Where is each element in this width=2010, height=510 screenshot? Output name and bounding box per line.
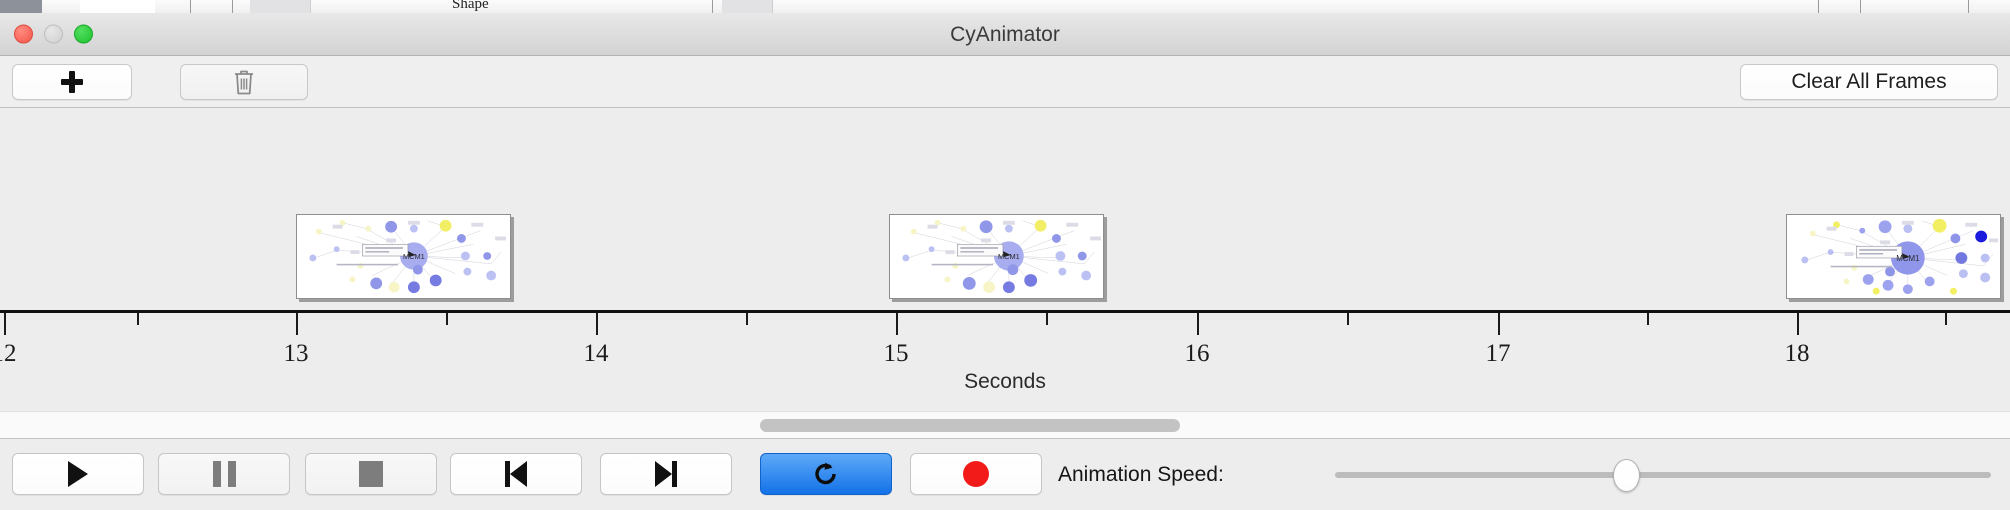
record-icon — [963, 461, 989, 487]
loop-button[interactable] — [760, 453, 892, 495]
background-window-tick — [232, 0, 233, 13]
ruler-label: 14 — [584, 340, 609, 368]
transport-bar: Animation Speed: — [0, 439, 2010, 510]
pause-button[interactable] — [158, 453, 290, 495]
animation-speed-slider[interactable] — [1335, 439, 1991, 510]
background-window-chip — [722, 0, 773, 13]
add-frame-button[interactable] — [12, 64, 132, 100]
network-graph-preview: MCM1 — [890, 215, 1103, 298]
ruler-tick-major — [896, 313, 898, 335]
background-window-chip — [250, 0, 311, 13]
skip-previous-icon — [505, 461, 527, 487]
plus-icon — [61, 71, 83, 93]
next-frame-button[interactable] — [600, 453, 732, 495]
window-titlebar: CyAnimator — [0, 13, 2010, 56]
svg-text:MCM1: MCM1 — [998, 252, 1020, 261]
background-window-tick — [1860, 0, 1861, 13]
delete-frame-button[interactable] — [180, 64, 308, 100]
ruler-tick-major — [1498, 313, 1500, 335]
network-graph-preview: MCM1 — [1787, 215, 2000, 298]
timeline-panel[interactable]: MCM1 — [0, 108, 2010, 411]
animation-speed-label: Animation Speed: — [1058, 439, 1224, 510]
play-button[interactable] — [12, 453, 144, 495]
background-window-dark-chip — [0, 0, 42, 13]
toolbar: Clear All Frames — [0, 56, 2010, 108]
stop-button[interactable] — [305, 453, 437, 495]
frames-track[interactable]: MCM1 — [0, 108, 2010, 310]
ruler-label: 16 — [1185, 340, 1210, 368]
timeline-frame-thumbnail[interactable]: MCM1 — [1786, 214, 2001, 299]
loop-icon — [811, 459, 841, 489]
ruler-label: 12 — [0, 340, 17, 368]
background-window-tick — [190, 0, 191, 13]
ruler-tick-major — [4, 313, 6, 335]
ruler-tick-major — [1797, 313, 1799, 335]
play-icon — [68, 461, 88, 487]
ruler-tick-minor — [746, 313, 748, 325]
timeline-horizontal-scrollbar[interactable] — [0, 411, 2010, 439]
ruler-tick-major — [1197, 313, 1199, 335]
svg-text:MCM1: MCM1 — [403, 252, 425, 261]
background-window-tick — [1968, 0, 1969, 13]
background-window-tick — [1818, 0, 1819, 13]
pause-icon — [213, 461, 236, 487]
slider-track[interactable] — [1335, 472, 1991, 478]
timeline-frame-thumbnail[interactable]: MCM1 — [296, 214, 511, 299]
ruler-tick-minor — [1046, 313, 1048, 325]
timeline-ruler[interactable]: 12 13 14 15 16 17 18 Seconds — [0, 310, 2010, 411]
timeline-frame-thumbnail[interactable]: MCM1 — [889, 214, 1104, 299]
ruler-label: 15 — [884, 340, 909, 368]
network-graph-preview: MCM1 — [297, 215, 510, 298]
trash-icon — [232, 68, 256, 96]
window-title: CyAnimator — [0, 13, 2010, 56]
svg-text:MCM1: MCM1 — [1896, 254, 1919, 263]
ruler-tick-minor — [1647, 313, 1649, 325]
axis-title: Seconds — [0, 370, 2010, 394]
background-window-tick — [712, 0, 713, 13]
ruler-tick-major — [596, 313, 598, 335]
ruler-tick-minor — [446, 313, 448, 325]
scrollbar-thumb[interactable] — [760, 419, 1180, 432]
record-button[interactable] — [910, 453, 1042, 495]
ruler-baseline — [0, 310, 2010, 313]
ruler-tick-minor — [137, 313, 139, 325]
previous-frame-button[interactable] — [450, 453, 582, 495]
ruler-label: 18 — [1785, 340, 1810, 368]
ruler-tick-minor — [1347, 313, 1349, 325]
ruler-label: 17 — [1486, 340, 1511, 368]
skip-next-icon — [655, 461, 677, 487]
ruler-tick-major — [296, 313, 298, 335]
clear-all-frames-button[interactable]: Clear All Frames — [1740, 64, 1998, 100]
slider-thumb[interactable] — [1613, 459, 1640, 492]
background-window-label: Shape — [452, 0, 489, 13]
clear-all-frames-label: Clear All Frames — [1791, 70, 1946, 94]
ruler-tick-minor — [1945, 313, 1947, 325]
background-window-strip: Shape — [0, 0, 2010, 13]
background-window-chip — [80, 0, 155, 13]
ruler-label: 13 — [284, 340, 309, 368]
stop-icon — [359, 461, 383, 487]
